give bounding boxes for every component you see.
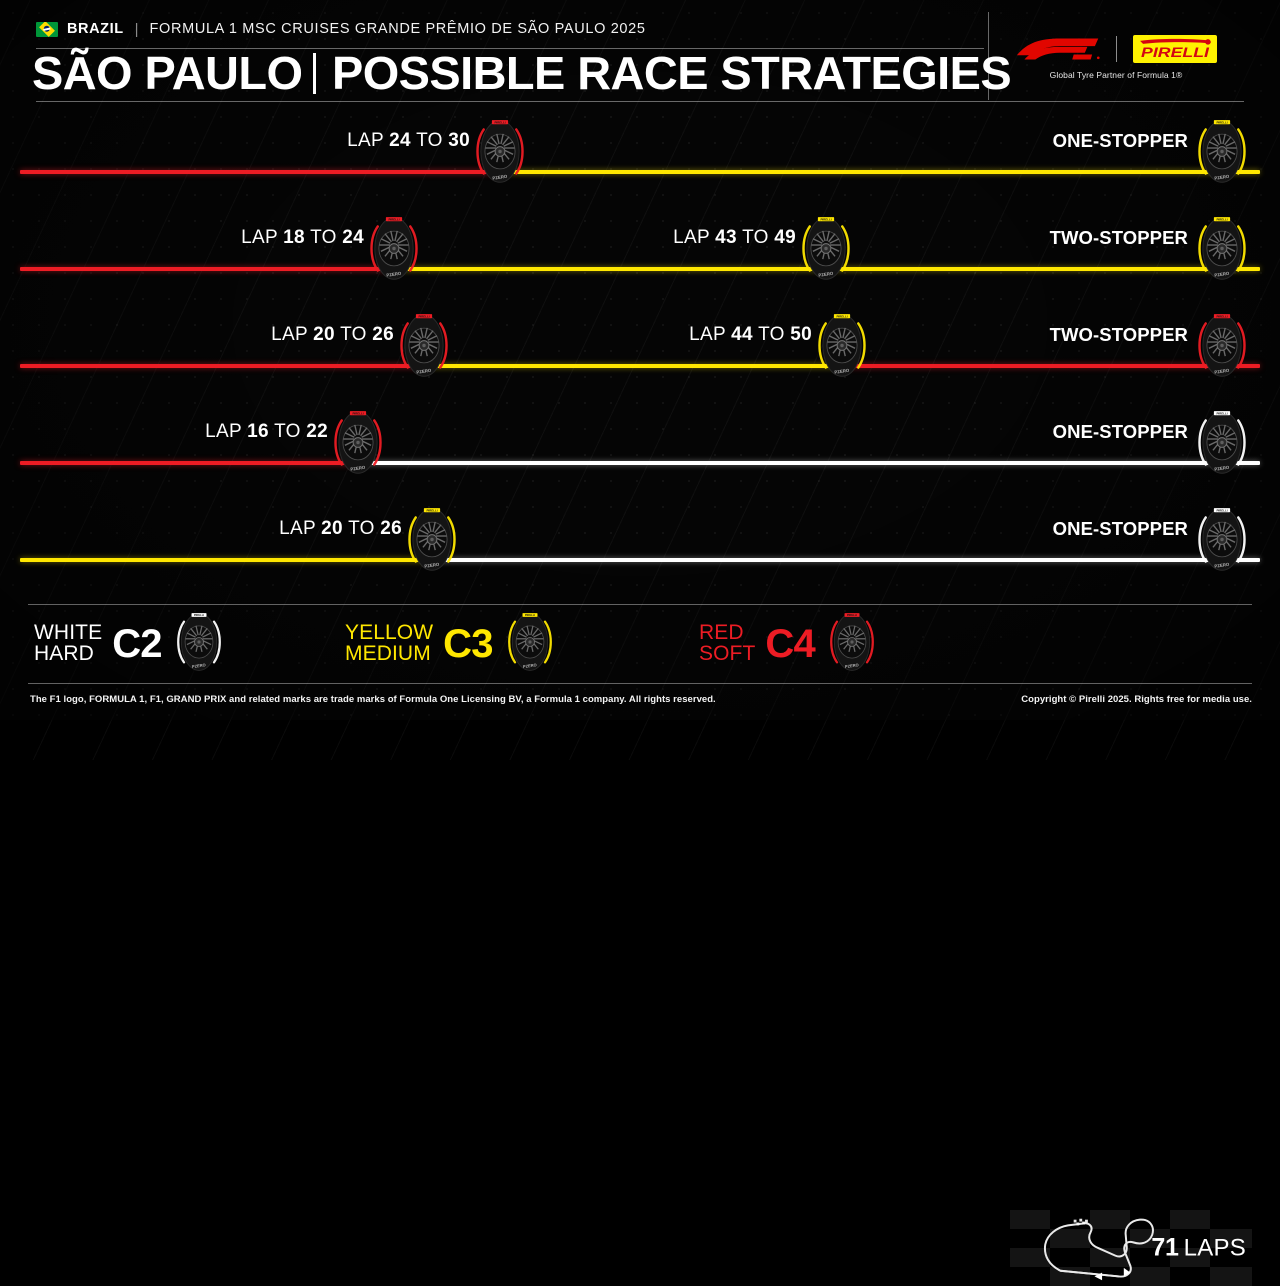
stint-segment-soft: [20, 364, 424, 368]
legend-type-word: HARD: [34, 644, 102, 665]
page-title-location: SÃO PAULO: [32, 50, 302, 96]
legend-compound-code: C4: [765, 624, 815, 664]
strategy-row: LAP 18 TO 24 PIRELLI PZERO LAP 43 TO 49 …: [0, 209, 1280, 306]
svg-text:PIRELLI: PIRELLI: [836, 314, 847, 318]
stint-lap-label: LAP 24 TO 30: [347, 130, 470, 152]
stint-segment-medium: [500, 170, 1260, 174]
stint-lap-from: 43: [715, 227, 737, 248]
stint-lap-from: 44: [731, 324, 753, 345]
final-tyre-hard: PIRELLI PZERO: [1193, 507, 1251, 577]
breadcrumb: BRAZIL | FORMULA 1 MSC CRUISES GRANDE PR…: [36, 16, 984, 42]
stint-lap-label: LAP 18 TO 24: [241, 227, 364, 249]
stint-lap-mid: TO: [305, 227, 342, 248]
strategy-row: LAP 20 TO 26 PIRELLI PZERO ONE-STOPPER P…: [0, 500, 1280, 597]
strategy-result-label: ONE-STOPPER: [1053, 130, 1188, 152]
stint-lap-prefix: LAP: [279, 518, 321, 539]
stint-lap-from: 24: [389, 130, 411, 151]
page-title-subject: POSSIBLE RACE STRATEGIES: [332, 50, 1011, 96]
legend-tyre-hard: PIRELLI PZERO: [172, 612, 226, 677]
legend-tyre-medium: PIRELLI PZERO: [503, 612, 557, 677]
footer: The F1 logo, FORMULA 1, F1, GRAND PRIX a…: [0, 688, 1280, 720]
stint-lap-mid: TO: [737, 227, 774, 248]
title-divider: [313, 53, 316, 94]
brazil-flag-icon: [36, 22, 58, 37]
final-tyre-hard: PIRELLI PZERO: [1193, 410, 1251, 480]
strategy-result-label: ONE-STOPPER: [1053, 421, 1188, 443]
strategy-rows: LAP 24 TO 30 PIRELLI PZERO ONE-STOPPER P…: [0, 112, 1280, 600]
stint-lap-from: 16: [247, 421, 269, 442]
compound-legend: WHITE HARD C2 PIRELLI PZERO YELLOW MEDIU…: [0, 604, 1280, 684]
legend-color-word: YELLOW: [345, 623, 433, 644]
svg-text:PIRELLI: PIRELLI: [388, 217, 399, 221]
stint-segment-medium: [424, 364, 842, 368]
f1-logo: [1016, 36, 1100, 62]
pit-stop-tyre-soft: PIRELLI PZERO: [365, 216, 423, 286]
stint-lap-from: 20: [313, 324, 335, 345]
grand-prix-name: FORMULA 1 MSC CRUISES GRANDE PRÊMIO DE S…: [150, 21, 646, 37]
strategy-result-label: TWO-STOPPER: [1050, 324, 1188, 346]
header: BRAZIL | FORMULA 1 MSC CRUISES GRANDE PR…: [0, 0, 1280, 110]
svg-text:PIRELLI: PIRELLI: [820, 217, 831, 221]
strategy-result-label: ONE-STOPPER: [1053, 518, 1188, 540]
legend-type-word: MEDIUM: [345, 644, 433, 665]
final-tyre-medium: PIRELLI PZERO: [1193, 216, 1251, 286]
footer-legal-text: The F1 logo, FORMULA 1, F1, GRAND PRIX a…: [30, 694, 716, 705]
legend-words: RED SOFT: [699, 623, 755, 665]
stint-segment-hard: [359, 461, 1260, 465]
svg-text:PIRELLI: PIRELLI: [1216, 508, 1227, 512]
stint-lap-to: 26: [380, 518, 402, 539]
legend-color-word: RED: [699, 623, 755, 644]
lap-count-word: LAPS: [1184, 1235, 1246, 1263]
stint-segment-soft: [20, 461, 359, 465]
stint-lap-label: LAP 43 TO 49: [673, 227, 796, 249]
stint-lap-label: LAP 44 TO 50: [689, 324, 812, 346]
stint-lap-to: 49: [774, 227, 796, 248]
legend-rule-top: [28, 604, 1252, 605]
stint-track: [20, 461, 1260, 465]
legend-compound-code: C3: [443, 624, 493, 664]
stint-lap-prefix: LAP: [673, 227, 715, 248]
page-title: SÃO PAULO POSSIBLE RACE STRATEGIES: [32, 49, 998, 97]
svg-text:PIRELLI: PIRELLI: [418, 314, 429, 318]
svg-text:PIRELLI: PIRELLI: [847, 613, 857, 617]
lap-count-number: 71: [1151, 1234, 1178, 1263]
legend-type-word: SOFT: [699, 644, 755, 665]
stint-lap-prefix: LAP: [689, 324, 731, 345]
pit-stop-tyre-medium: PIRELLI PZERO: [813, 313, 871, 383]
svg-text:PIRELLI: PIRELLI: [1216, 314, 1227, 318]
svg-text:PIRELLI: PIRELLI: [1216, 120, 1227, 124]
legend-item-hard: WHITE HARD C2 PIRELLI PZERO: [34, 616, 226, 672]
strategy-row: LAP 24 TO 30 PIRELLI PZERO ONE-STOPPER P…: [0, 112, 1280, 209]
pit-stop-tyre-medium: PIRELLI PZERO: [403, 507, 461, 577]
stint-lap-mid: TO: [343, 518, 380, 539]
final-tyre-soft: PIRELLI PZERO: [1193, 313, 1251, 383]
stint-track: [20, 558, 1260, 562]
stint-lap-prefix: LAP: [241, 227, 283, 248]
footer-copyright-text: Copyright © Pirelli 2025. Rights free fo…: [1021, 694, 1252, 705]
breadcrumb-divider: |: [135, 21, 139, 38]
legend-rule-bottom: [28, 683, 1252, 684]
stint-lap-prefix: LAP: [347, 130, 389, 151]
stint-track: [20, 267, 1260, 271]
stint-track: [20, 170, 1260, 174]
svg-text:PIRELLI: PIRELLI: [1216, 411, 1227, 415]
stint-lap-mid: TO: [335, 324, 372, 345]
final-tyre-medium: PIRELLI PZERO: [1193, 119, 1251, 189]
stint-lap-label: LAP 16 TO 22: [205, 421, 328, 443]
stint-track: [20, 364, 1260, 368]
svg-text:PIRELLI: PIRELLI: [494, 120, 505, 124]
svg-text:PIRELLI: PIRELLI: [194, 613, 204, 617]
stint-lap-label: LAP 20 TO 26: [279, 518, 402, 540]
stint-segment-hard: [432, 558, 1260, 562]
stint-lap-from: 20: [321, 518, 343, 539]
svg-text:PIRELLI: PIRELLI: [525, 613, 535, 617]
stint-lap-prefix: LAP: [205, 421, 247, 442]
stint-lap-prefix: LAP: [271, 324, 313, 345]
stint-segment-soft: [20, 170, 500, 174]
stint-segment-medium: [20, 558, 432, 562]
pirelli-logo: PIRELLI: [1133, 35, 1217, 63]
legend-compound-code: C2: [112, 624, 162, 664]
strategy-row: LAP 16 TO 22 PIRELLI PZERO ONE-STOPPER P…: [0, 403, 1280, 500]
legend-words: YELLOW MEDIUM: [345, 623, 433, 665]
stint-lap-to: 26: [372, 324, 394, 345]
svg-text:PIRELLI: PIRELLI: [1141, 45, 1210, 61]
stint-lap-mid: TO: [753, 324, 790, 345]
stint-lap-from: 18: [283, 227, 305, 248]
lap-count: 71 LAPS: [1151, 1234, 1246, 1263]
strategy-row: LAP 20 TO 26 PIRELLI PZERO LAP 44 TO 50 …: [0, 306, 1280, 403]
stint-lap-to: 24: [342, 227, 364, 248]
stint-segment-soft: [20, 267, 394, 271]
partner-tagline: Global Tyre Partner of Formula 1®: [988, 70, 1244, 80]
svg-text:PIRELLI: PIRELLI: [1216, 217, 1227, 221]
stint-segment-medium: [394, 267, 826, 271]
pit-stop-tyre-soft: PIRELLI PZERO: [471, 119, 529, 189]
country-name: BRAZIL: [67, 21, 124, 37]
legend-item-medium: YELLOW MEDIUM C3 PIRELLI PZERO: [345, 616, 557, 672]
header-rule-bottom: [36, 101, 1244, 102]
stint-lap-mid: TO: [269, 421, 306, 442]
stint-lap-to: 30: [448, 130, 470, 151]
pit-stop-tyre-soft: PIRELLI PZERO: [395, 313, 453, 383]
legend-item-soft: RED SOFT C4 PIRELLI PZERO: [699, 616, 879, 672]
stint-lap-mid: TO: [411, 130, 448, 151]
legend-words: WHITE HARD: [34, 623, 102, 665]
pit-stop-tyre-medium: PIRELLI PZERO: [797, 216, 855, 286]
strategy-result-label: TWO-STOPPER: [1050, 227, 1188, 249]
legend-color-word: WHITE: [34, 623, 102, 644]
pit-stop-tyre-soft: PIRELLI PZERO: [329, 410, 387, 480]
stint-lap-to: 50: [790, 324, 812, 345]
svg-text:PIRELLI: PIRELLI: [352, 411, 363, 415]
stint-lap-label: LAP 20 TO 26: [271, 324, 394, 346]
circuit-info: 71 LAPS: [1010, 1210, 1252, 1286]
svg-text:PIRELLI: PIRELLI: [426, 508, 437, 512]
legend-tyre-soft: PIRELLI PZERO: [825, 612, 879, 677]
stint-lap-to: 22: [306, 421, 328, 442]
logo-divider: [1116, 36, 1117, 62]
